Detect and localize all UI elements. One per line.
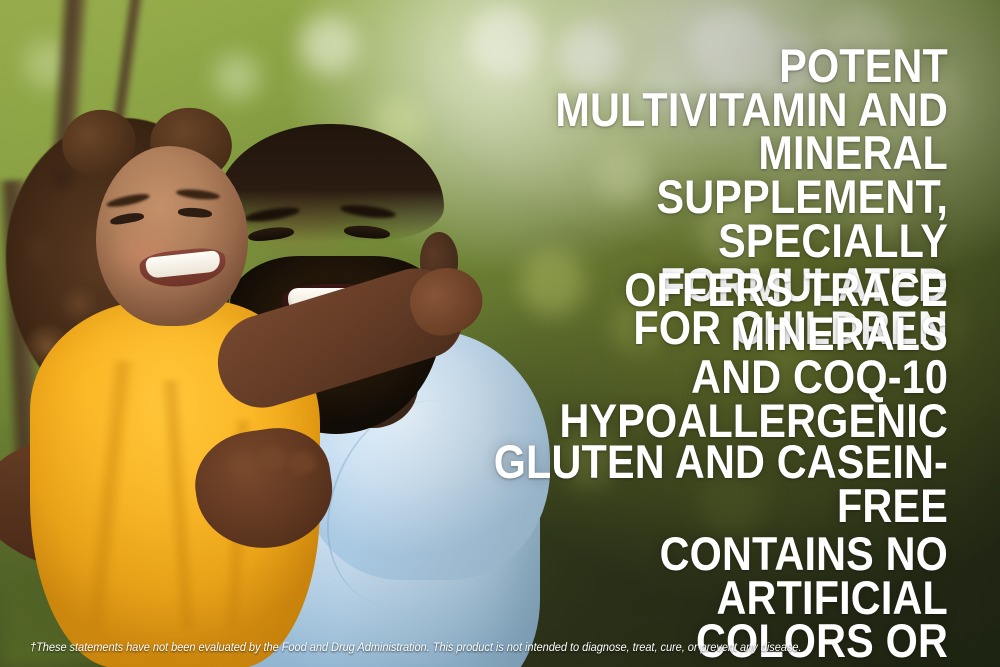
man-hair xyxy=(216,124,444,242)
fda-disclaimer: †These statements have not been evaluate… xyxy=(30,641,911,655)
man-knuckle xyxy=(288,452,316,474)
man-knuckle xyxy=(258,446,288,470)
claim-gluten-casein-free: GLUTEN AND CASEIN-FREE xyxy=(492,440,948,527)
man-knuckle xyxy=(228,452,258,476)
product-marketing-banner: POTENT MULTIVITAMIN AND MINERAL SUPPLEME… xyxy=(0,0,1000,667)
marketing-copy-column: POTENT MULTIVITAMIN AND MINERAL SUPPLEME… xyxy=(430,0,948,667)
claim-trace-minerals-coq10: OFFERS TRACE MINERALS AND COQ-10 HYPOALL… xyxy=(492,268,948,443)
